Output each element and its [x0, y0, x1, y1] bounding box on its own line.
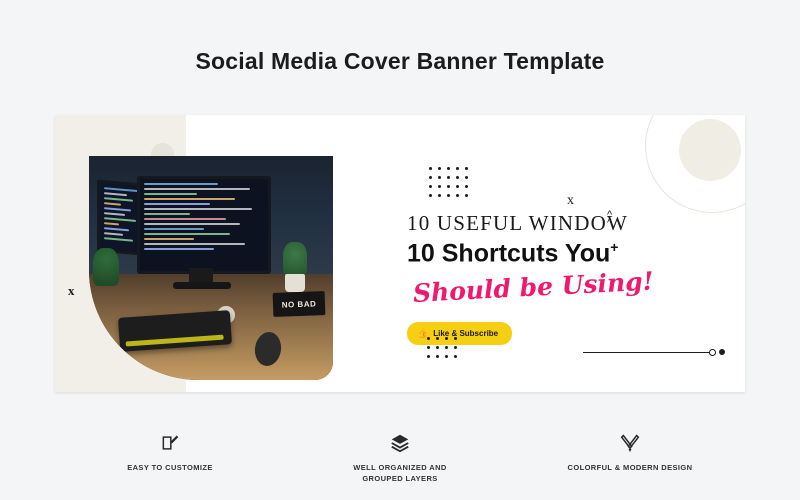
headline-script: Should be Using! — [412, 266, 654, 308]
monitor-stand-base — [173, 282, 231, 289]
keyboard-accent — [126, 335, 224, 347]
headline-superscript: + — [610, 239, 618, 255]
feature-label-design: COLORFUL & MODERN DESIGN — [515, 462, 745, 473]
x-mark-left-icon: x — [68, 283, 75, 299]
feature-list: EASY TO CUSTOMIZE WELL ORGANIZED AND GRO… — [55, 430, 745, 485]
banner-content: x ^^ 10 USEFUL WINDOW 10 Shortcuts You+ … — [345, 115, 745, 392]
dot-grid-top — [429, 167, 468, 197]
divider-rule — [583, 352, 711, 353]
headline-line-2: 10 Shortcuts You+ — [407, 239, 618, 268]
banner-inner: x — [55, 115, 745, 392]
rule-dot-solid — [719, 349, 725, 355]
page-root: Social Media Cover Banner Template x — [0, 0, 800, 500]
plant-pot-right — [285, 274, 305, 292]
banner-card: x — [55, 115, 745, 392]
headline-line-1: 10 USEFUL WINDOW — [407, 211, 628, 236]
feature-item-layers: WELL ORGANIZED AND GROUPED LAYERS — [285, 430, 515, 485]
edit-square-icon — [55, 430, 285, 456]
plant-left — [93, 248, 119, 286]
x-mark-top-icon: x — [567, 193, 574, 209]
feature-label-customize: EASY TO CUSTOMIZE — [55, 462, 285, 473]
rule-dot-hollow — [709, 349, 716, 356]
primary-monitor-code — [144, 183, 264, 267]
page-title: Social Media Cover Banner Template — [0, 48, 800, 75]
desk-sign: NO BAD — [273, 291, 326, 317]
layers-icon — [285, 430, 515, 456]
workspace-photo: NO BAD — [89, 156, 333, 380]
like-subscribe-button[interactable]: 👍 Like & Subscribe — [407, 322, 512, 345]
feature-item-design: COLORFUL & MODERN DESIGN — [515, 430, 745, 485]
plant-right — [283, 242, 307, 276]
headline-line-2-text: 10 Shortcuts You — [407, 239, 610, 267]
dot-grid-bottom — [427, 337, 457, 358]
brush-pencil-icon — [515, 430, 745, 456]
feature-item-customize: EASY TO CUSTOMIZE — [55, 430, 285, 485]
feature-label-layers: WELL ORGANIZED AND GROUPED LAYERS — [285, 462, 515, 485]
primary-monitor — [137, 176, 271, 274]
